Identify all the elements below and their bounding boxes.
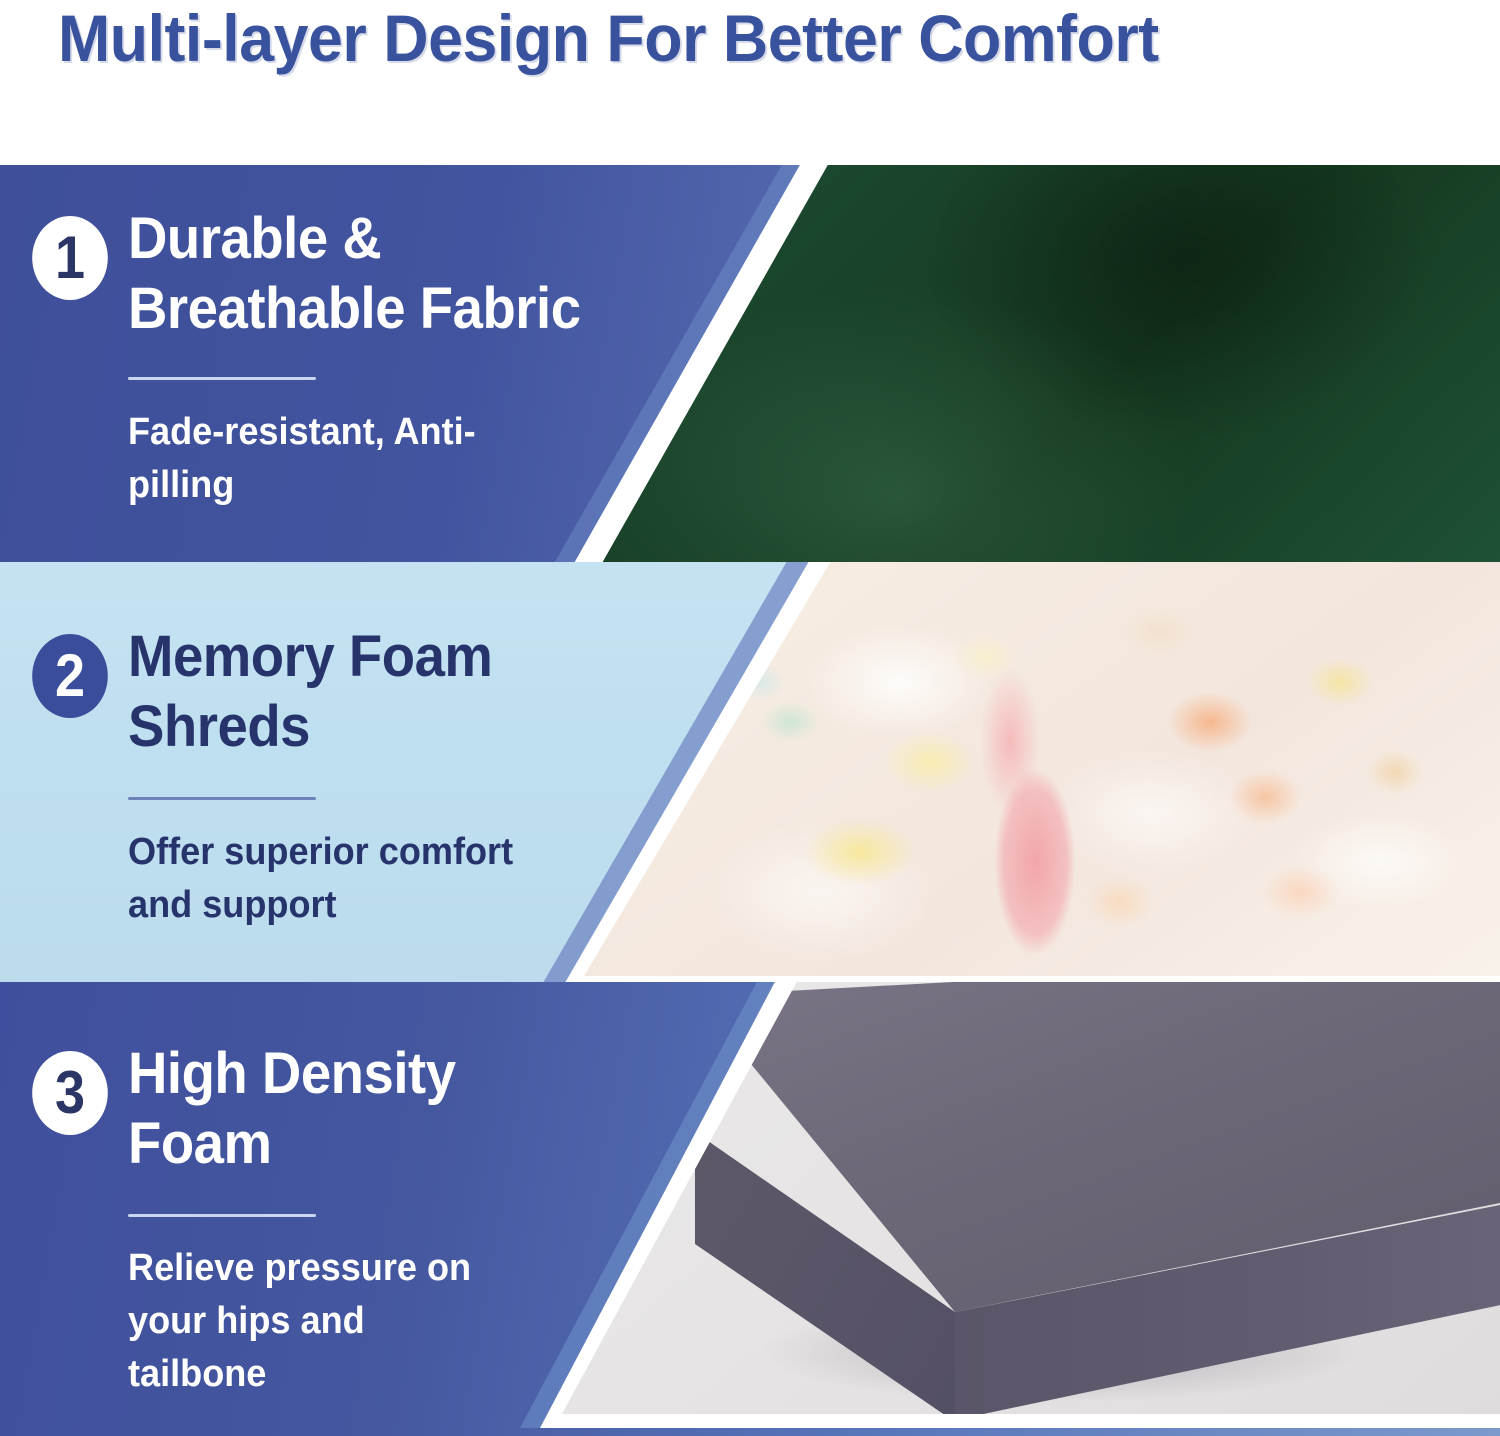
step-number-badge-2: 2 <box>32 634 108 718</box>
page-title: Multi-layer Design For Better Comfort <box>58 2 1159 74</box>
layer-1-subtext: Fade-resistant, Anti-pilling <box>128 406 508 512</box>
title-bar: Multi-layer Design For Better Comfort <box>0 0 1500 133</box>
step-number-badge-3: 3 <box>32 1051 108 1135</box>
layer-3-heading: High Density Foam <box>128 1039 570 1179</box>
layer-2-subtext: Offer superior comfort and support <box>128 826 575 932</box>
layer-3-subtext: Relieve pressure on your hips and tailbo… <box>128 1242 508 1401</box>
layer-1-heading: Durable & Breathable Fabric <box>128 204 654 344</box>
step-number-badge-1: 1 <box>32 216 108 300</box>
layer-2-heading: Memory Foam Shreds <box>128 622 617 762</box>
layer-2-divider <box>128 797 316 800</box>
product-infographic: Multi-layer Design For Better Comfort 1 … <box>0 0 1500 1436</box>
layer-1-divider <box>128 377 316 380</box>
layer-3-divider <box>128 1214 316 1217</box>
